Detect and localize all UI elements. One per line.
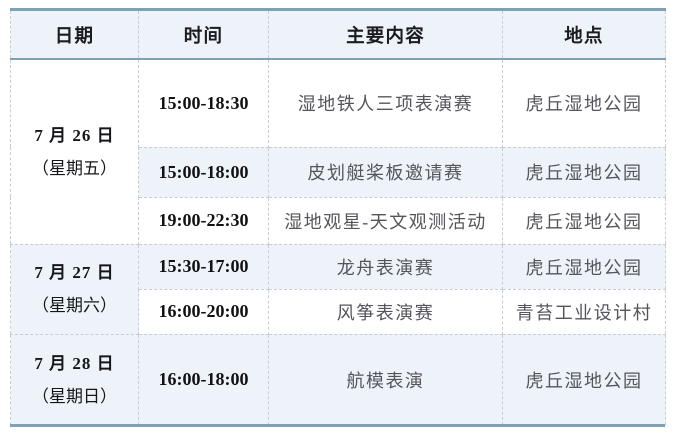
place-cell: 虎丘湿地公园 [503, 244, 666, 289]
table-body: 7 月 26 日（星期五）15:00-18:30湿地铁人三项表演赛虎丘湿地公园1… [11, 59, 666, 425]
column-header-place: 地点 [503, 10, 666, 60]
time-cell: 15:30-17:00 [139, 244, 269, 289]
column-header-content: 主要内容 [269, 10, 503, 60]
place-cell: 虎丘湿地公园 [503, 197, 666, 244]
date-line-weekday: （星期五） [15, 152, 134, 185]
content-cell: 航模表演 [269, 334, 503, 425]
date-cell: 7 月 28 日（星期日） [11, 334, 139, 425]
date-cell: 7 月 27 日（星期六） [11, 244, 139, 334]
place-cell: 虎丘湿地公园 [503, 147, 666, 197]
time-cell: 15:00-18:00 [139, 147, 269, 197]
time-cell: 15:00-18:30 [139, 59, 269, 147]
event-schedule-table: 日期 时间 主要内容 地点 7 月 26 日（星期五）15:00-18:30湿地… [10, 8, 666, 425]
date-line-primary: 7 月 28 日 [15, 347, 134, 380]
time-cell: 19:00-22:30 [139, 197, 269, 244]
time-cell: 16:00-18:00 [139, 334, 269, 425]
date-cell: 7 月 26 日（星期五） [11, 59, 139, 244]
time-cell: 16:00-20:00 [139, 289, 269, 334]
table-header-row: 日期 时间 主要内容 地点 [11, 10, 666, 60]
place-cell: 虎丘湿地公园 [503, 334, 666, 425]
place-cell: 青苔工业设计村 [503, 289, 666, 334]
content-cell: 龙舟表演赛 [269, 244, 503, 289]
table-row: 7 月 28 日（星期日）16:00-18:00航模表演虎丘湿地公园 [11, 334, 666, 425]
schedule-table-container: 日期 时间 主要内容 地点 7 月 26 日（星期五）15:00-18:30湿地… [0, 0, 675, 435]
column-header-time: 时间 [139, 10, 269, 60]
content-cell: 皮划艇桨板邀请赛 [269, 147, 503, 197]
date-line-weekday: （星期日） [15, 380, 134, 413]
date-line-primary: 7 月 27 日 [15, 256, 134, 289]
content-cell: 湿地观星-天文观测活动 [269, 197, 503, 244]
date-line-primary: 7 月 26 日 [15, 119, 134, 152]
table-header: 日期 时间 主要内容 地点 [11, 10, 666, 60]
table-row: 7 月 27 日（星期六）15:30-17:00龙舟表演赛虎丘湿地公园 [11, 244, 666, 289]
table-row: 7 月 26 日（星期五）15:00-18:30湿地铁人三项表演赛虎丘湿地公园 [11, 59, 666, 147]
date-line-weekday: （星期六） [15, 289, 134, 322]
column-header-date: 日期 [11, 10, 139, 60]
table-bottom-rule [10, 424, 665, 427]
content-cell: 湿地铁人三项表演赛 [269, 59, 503, 147]
content-cell: 风筝表演赛 [269, 289, 503, 334]
place-cell: 虎丘湿地公园 [503, 59, 666, 147]
